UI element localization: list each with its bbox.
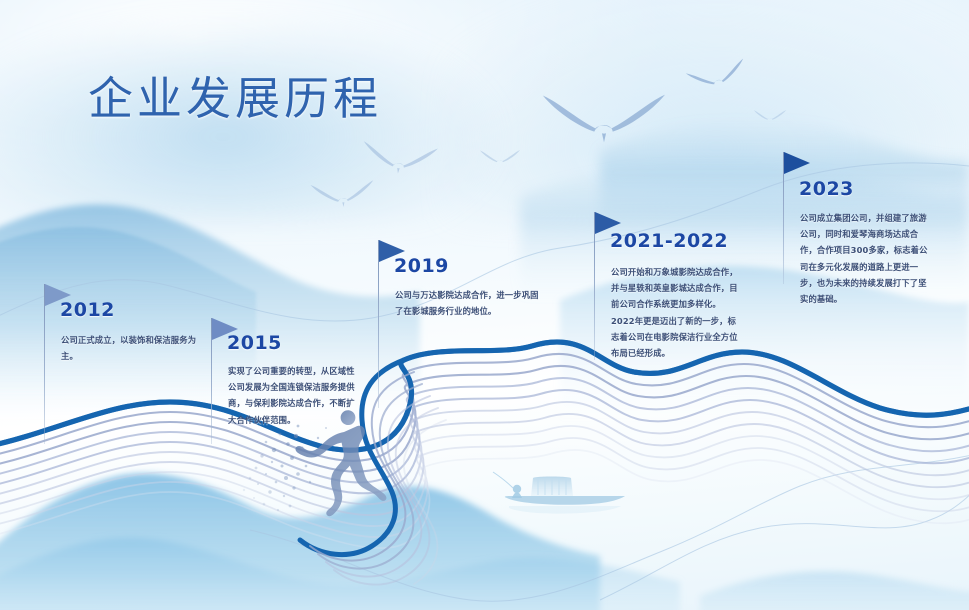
milestone-description: 公司正式成立，以装饰和保洁服务为主。 [61,332,211,364]
milestone-year: 2015 [227,332,282,354]
milestone-year: 2023 [799,178,854,200]
flag-pole [378,240,379,408]
milestone-description: 公司成立集团公司，并组建了旅游公司，同时和爱琴海商场达成合作，合作项目300多家… [800,210,928,307]
milestone-year: 2012 [60,299,115,321]
flag-pole [44,284,45,444]
page-title: 企业发展历程 [88,62,382,127]
milestone-description: 实现了公司重要的转型，从区域性公司发展为全国连锁保洁服务提供商，与保利影院达成合… [228,363,360,428]
milestone-description: 公司开始和万象城影院达成合作，并与星轶和英皇影城达成合作，目前公司合作系统更加多… [611,264,743,361]
flag-pole [594,212,595,360]
milestone-description: 公司与万达影院达成合作，进一步巩固了在影城服务行业的地位。 [395,287,547,319]
flag-icon [784,152,810,174]
infographic-canvas: 企业发展历程 2012 公司正式成立，以装饰和保洁服务为主。 2015 实现了公… [0,0,969,610]
milestone-year: 2019 [394,255,449,277]
milestone-year: 2021-2022 [610,230,728,252]
cloud-wash-right [446,0,969,220]
